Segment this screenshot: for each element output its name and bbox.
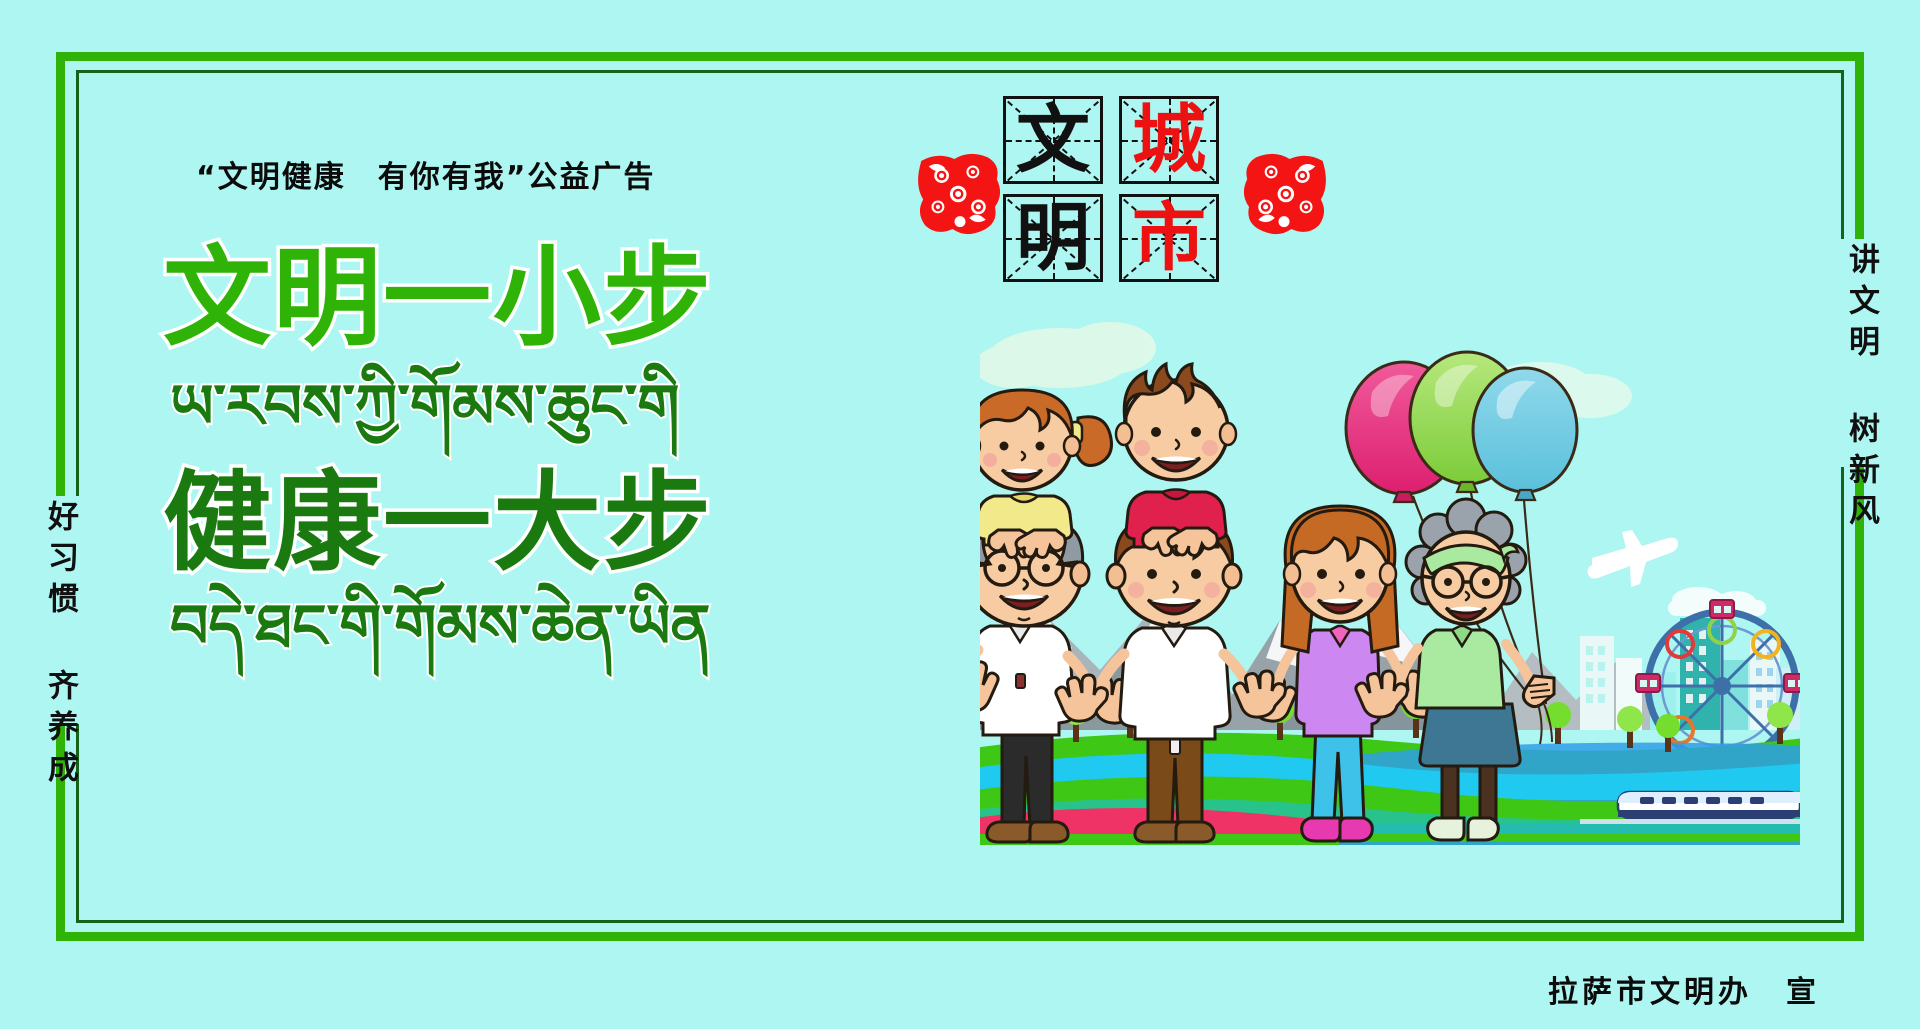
headline-secondary: 健康一大步 xyxy=(163,470,713,578)
headline-primary-tibetan: ཡ་རབས་ཀྱི་གོམས་ཆུང་གི xyxy=(170,376,680,439)
poster-root: 好习惯 齐养成 讲文明 树新风 “文明健康 有你有我”公益广告 文明一小步 ཡ་… xyxy=(0,0,1920,1029)
calligraphy-char-4: 市 xyxy=(1122,197,1216,279)
vertical-text-right: 讲文明 树新风 xyxy=(1845,243,1876,535)
family-illustration xyxy=(980,300,1800,845)
calligraphy-grid: 文 城 明 市 xyxy=(1003,96,1219,282)
credit-line: 拉萨市文明办 宣 xyxy=(1548,967,1820,1011)
vertical-text-left: 好习惯 齐养成 xyxy=(44,500,75,792)
papercut-right-icon xyxy=(1238,148,1330,240)
calligraphy-char-1: 文 xyxy=(1006,99,1100,181)
papercut-left-icon xyxy=(914,148,1006,240)
headline-secondary-tibetan: བདེ་ཐང་གི་གོམས་ཆེན་ཡིན xyxy=(170,596,710,659)
calligraphy-cell-wen: 文 xyxy=(1003,96,1103,184)
calligraphy-cell-ming: 明 xyxy=(1003,194,1103,282)
subtitle: “文明健康 有你有我”公益广告 xyxy=(196,152,655,196)
calligraphy-char-3: 明 xyxy=(1006,197,1100,279)
headline-primary: 文明一小步 xyxy=(163,245,713,353)
calligraphy-char-2: 城 xyxy=(1122,99,1216,181)
calligraphy-cell-cheng: 城 xyxy=(1119,96,1219,184)
calligraphy-cell-shi: 市 xyxy=(1119,194,1219,282)
